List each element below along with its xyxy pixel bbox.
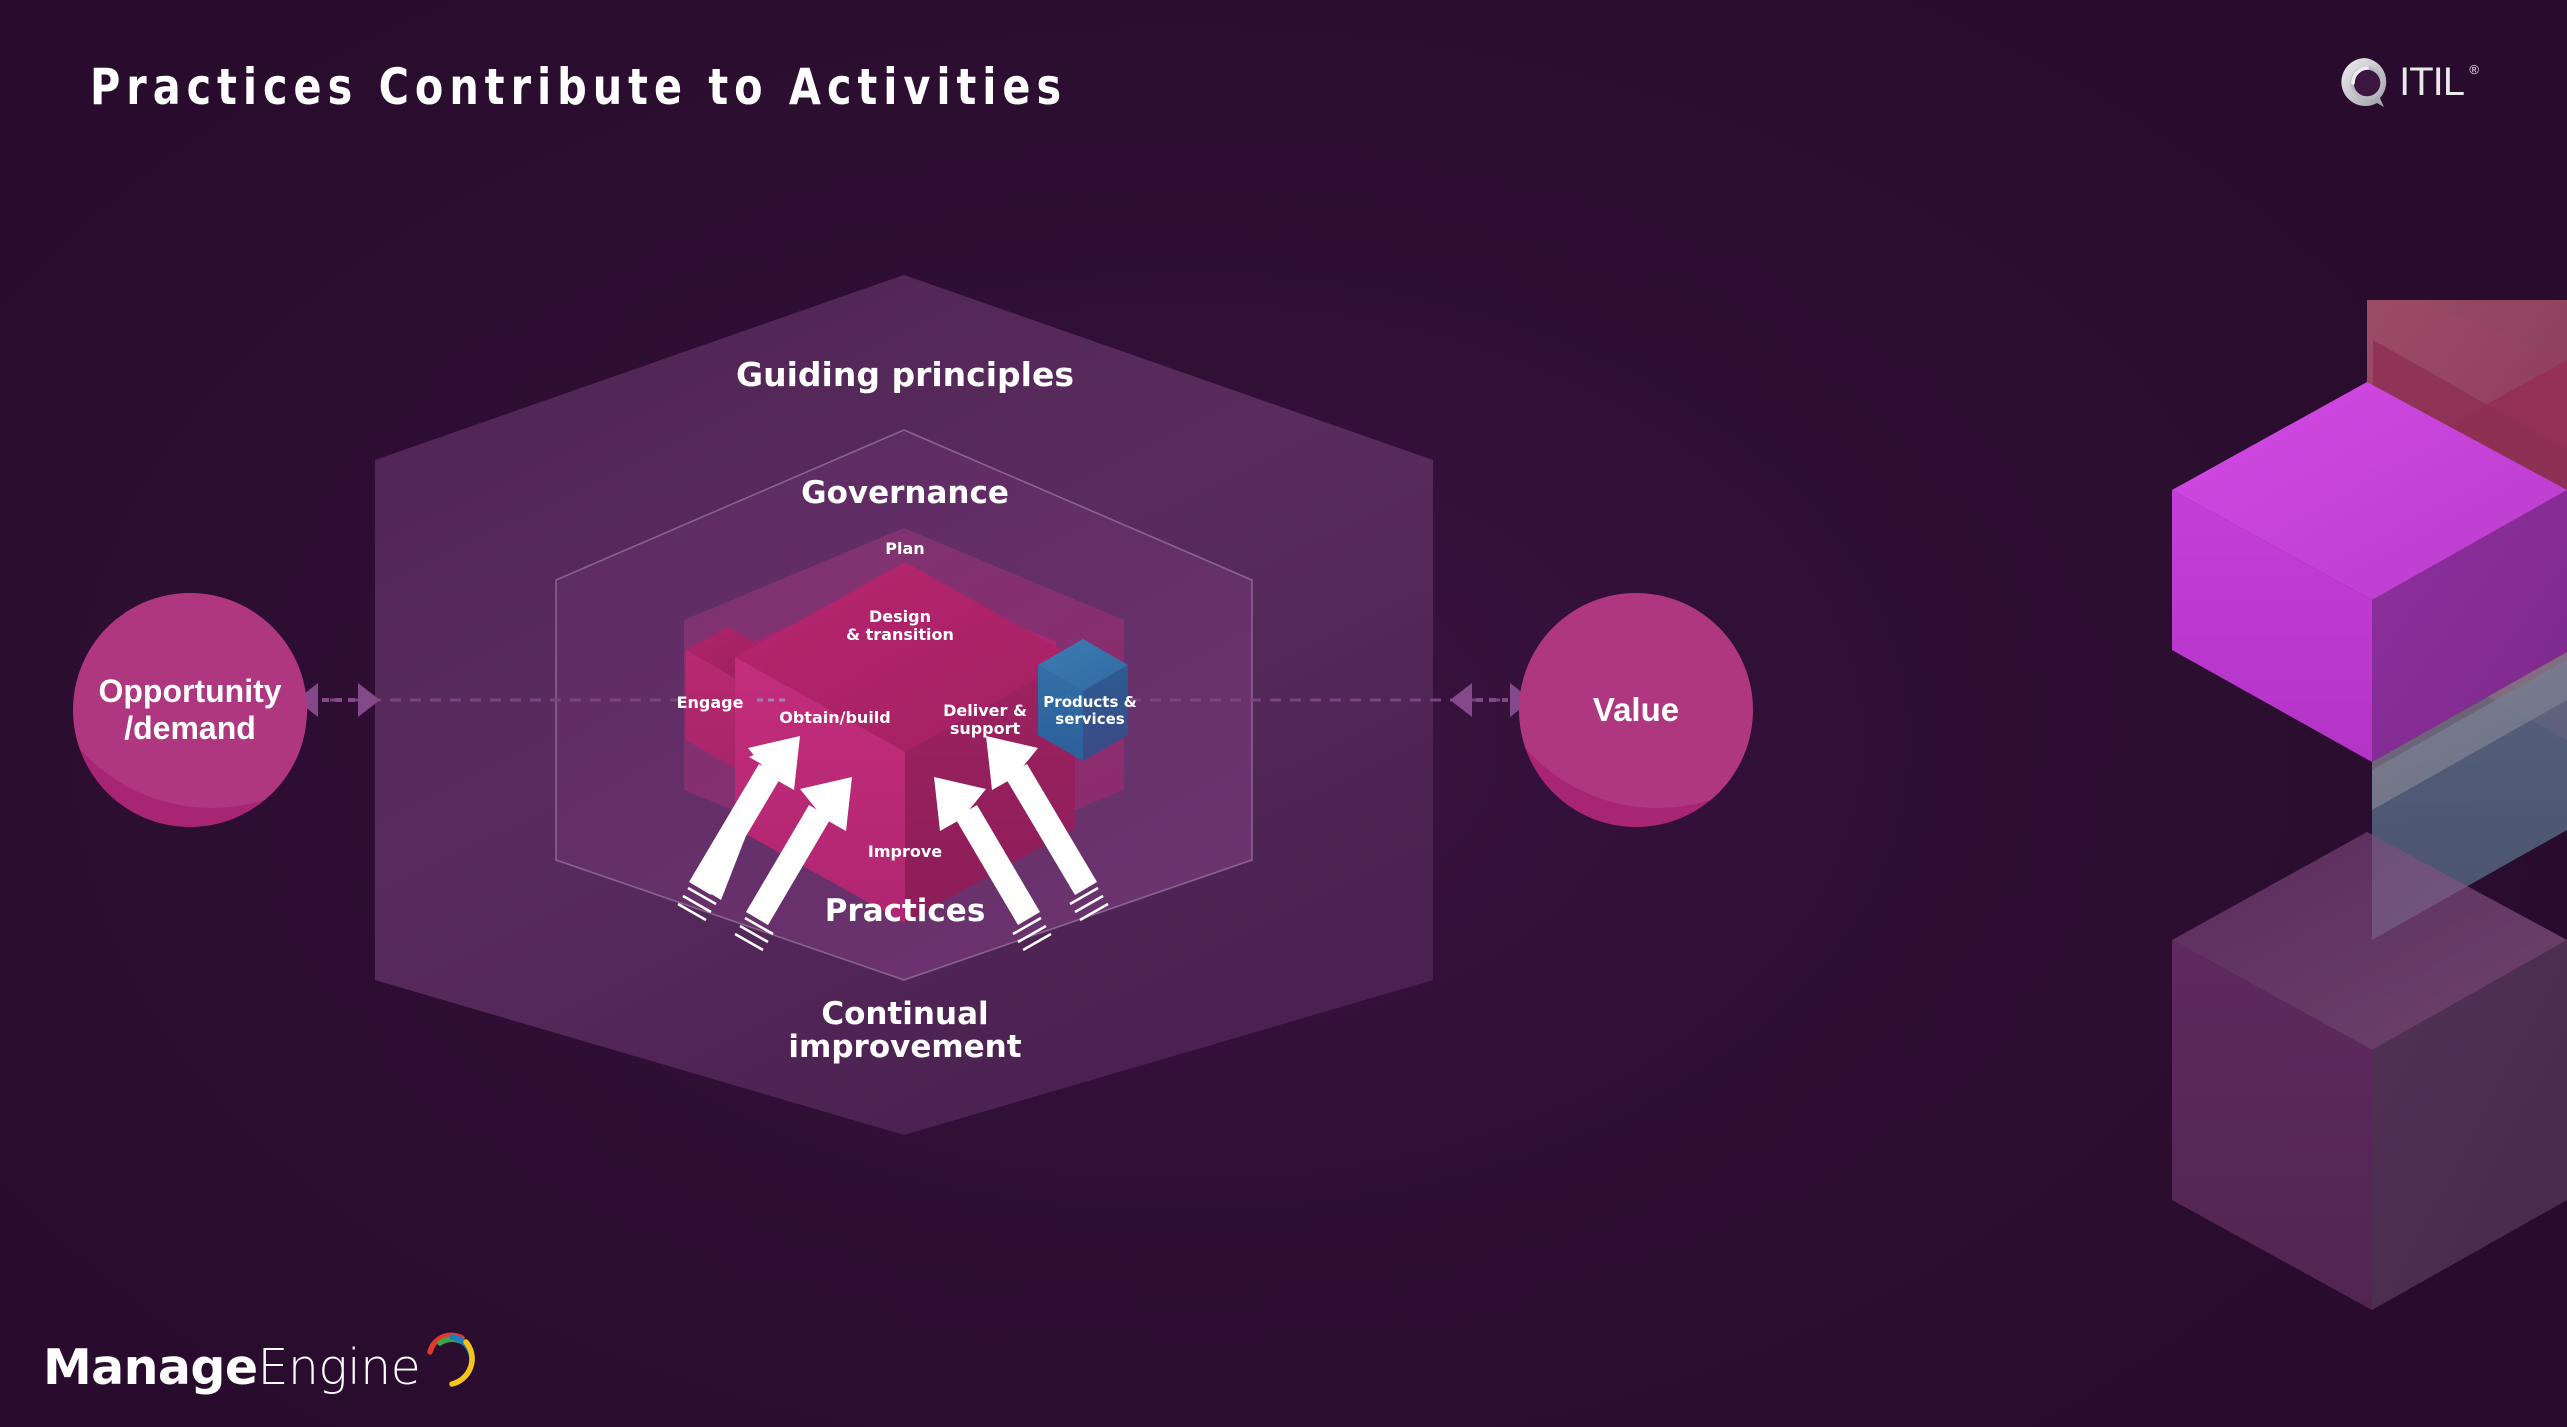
manageengine-wordmark: ManageEngine xyxy=(43,1343,420,1392)
page-title: Practices Contribute to Activities xyxy=(90,58,1067,116)
ring-label-practices: Practices xyxy=(0,895,1810,928)
manageengine-light-text: Engine xyxy=(257,1339,420,1396)
decorative-cube-stack xyxy=(2167,300,2567,1427)
itil-swirl-icon xyxy=(2337,55,2393,109)
deco-cube-plum xyxy=(2172,832,2567,1310)
manageengine-swoosh-icon xyxy=(416,1328,478,1390)
itil-wordmark: ITIL ® xyxy=(2399,60,2464,105)
chain-label-products-services: Products & services xyxy=(1000,694,1180,728)
itil-registered-mark: ® xyxy=(2469,62,2478,77)
chain-label-improve: Improve xyxy=(0,843,1810,861)
cube-stack-svg xyxy=(2167,300,2567,1427)
chain-label-design-transition: Design & transition xyxy=(810,608,990,644)
itil-logo: ITIL ® xyxy=(2337,55,2464,109)
bubble-value: Value xyxy=(1519,593,1753,827)
ring-label-continual-improvement: Continual improvement xyxy=(0,998,1810,1064)
itil-wordmark-text: ITIL xyxy=(2399,60,2464,104)
manageengine-logo: ManageEngine xyxy=(43,1328,478,1392)
bubble-opportunity-demand: Opportunity /demand xyxy=(73,593,307,827)
ring-label-guiding-principles: Guiding principles xyxy=(0,358,1810,393)
ring-label-governance: Governance xyxy=(0,477,1810,510)
chain-label-plan: Plan xyxy=(0,540,1810,558)
bubble-value-label: Value xyxy=(1593,691,1679,729)
manageengine-bold-text: Manage xyxy=(43,1339,257,1396)
bubble-opportunity-label: Opportunity /demand xyxy=(98,673,281,747)
